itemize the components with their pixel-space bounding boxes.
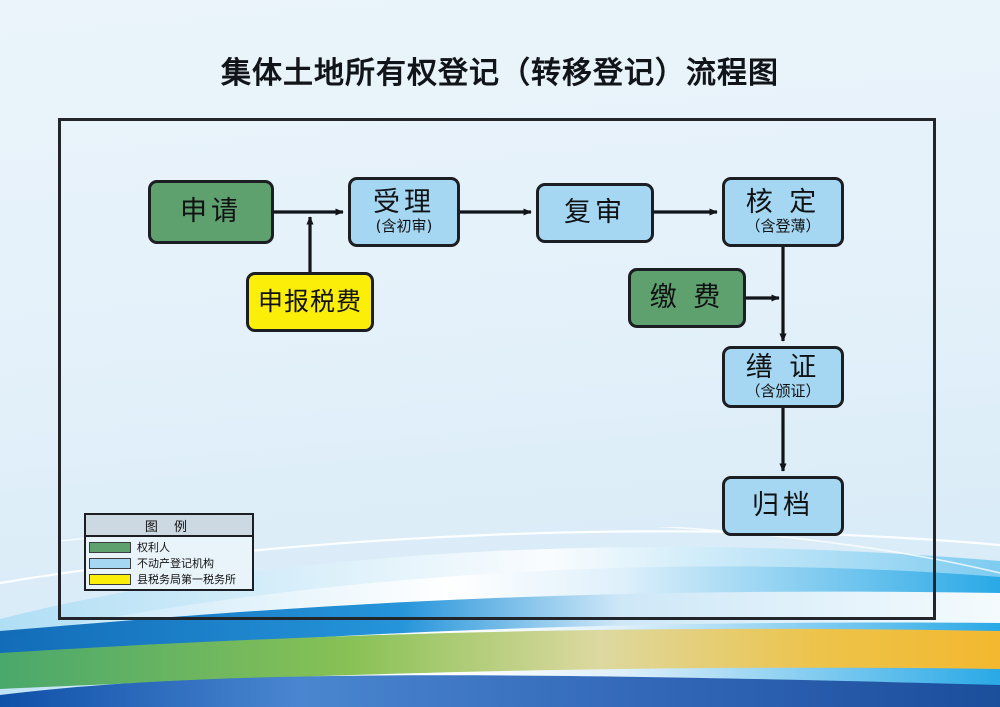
flow-node-review[interactable]: 复审 [536, 183, 654, 243]
flow-node-apply[interactable]: 申请 [148, 180, 274, 244]
flow-node-accept-label: 受理 [373, 189, 435, 217]
legend: 图 例 权利人 不动产登记机构 县税务局第一税务所 [84, 513, 254, 591]
legend-swatch-green [89, 542, 131, 553]
flow-node-accept[interactable]: 受理 (含初审) [348, 177, 460, 247]
flow-node-approve-label: 核 定 [746, 189, 821, 217]
legend-label-tax-office: 县税务局第一税务所 [137, 571, 236, 587]
legend-swatch-blue [89, 558, 131, 569]
flow-node-review-label: 复审 [564, 199, 626, 227]
flow-node-approve[interactable]: 核 定 （含登薄） [722, 177, 844, 247]
flow-node-payment-label: 缴 费 [650, 284, 725, 312]
page-title: 集体土地所有权登记（转移登记）流程图 [0, 48, 1000, 92]
flow-node-archive[interactable]: 归档 [722, 476, 844, 536]
legend-item-rights-holder: 权利人 [89, 540, 252, 554]
legend-item-registry: 不动产登记机构 [89, 556, 252, 570]
flow-node-declare-tax-label: 申报税费 [258, 289, 362, 315]
flow-node-issue-certificate-label: 缮 证 [746, 354, 821, 382]
flow-node-accept-sublabel: (含初审) [376, 219, 433, 235]
legend-item-tax-office: 县税务局第一税务所 [89, 572, 252, 586]
legend-header: 图 例 [86, 515, 252, 537]
flow-node-issue-certificate-sublabel: （含颁证） [745, 384, 820, 400]
legend-swatch-yellow [89, 574, 131, 585]
legend-label-registry: 不动产登记机构 [137, 555, 214, 571]
legend-label-rights-holder: 权利人 [137, 539, 170, 555]
flow-node-archive-label: 归档 [752, 492, 814, 520]
flow-node-declare-tax[interactable]: 申报税费 [246, 272, 374, 332]
poster-page: 集体土地所有权登记（转移登记）流程图 申请 受理 (含初审) 复审 核 定 （含… [0, 0, 1000, 707]
flow-node-approve-sublabel: （含登薄） [745, 219, 820, 235]
flow-node-payment[interactable]: 缴 费 [628, 268, 746, 328]
legend-items: 权利人 不动产登记机构 县税务局第一税务所 [86, 537, 252, 586]
flow-node-issue-certificate[interactable]: 缮 证 （含颁证） [722, 346, 844, 408]
flow-node-apply-label: 申请 [180, 198, 242, 226]
